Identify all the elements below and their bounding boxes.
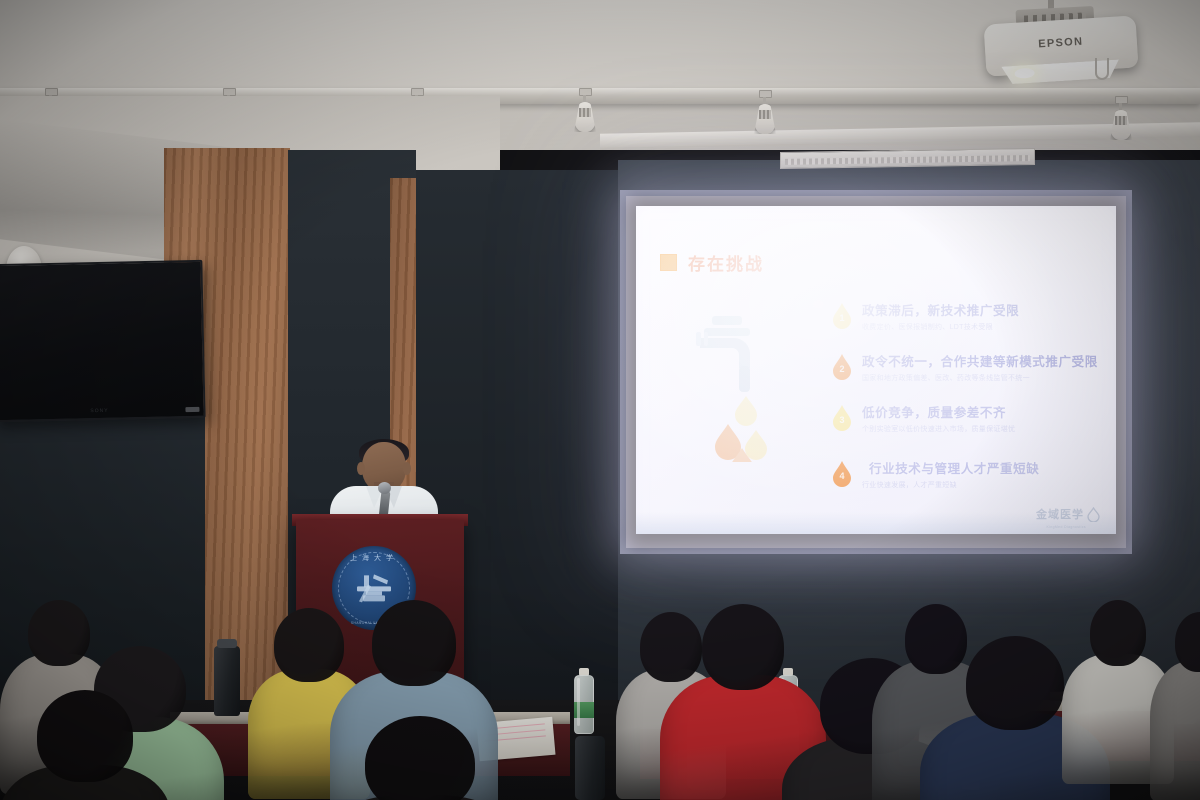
projector-cable-hook <box>1095 58 1109 80</box>
bullet-heading: 行业技术与管理人才严重短缺 <box>862 458 1114 477</box>
water-bottle <box>574 668 594 734</box>
bullet-number: 2 <box>832 364 852 374</box>
audience-member-torso <box>1150 661 1200 800</box>
slide-bullet-item: 1 政策滞后，新技术推广受限 收费定价、医保报销制约、LDT技术受限 <box>832 300 1114 342</box>
projected-slide: 存在挑战 <box>636 206 1116 534</box>
water-drop-number-icon: 1 <box>832 302 852 329</box>
brand-name: 金域医学 <box>1036 506 1084 522</box>
slide-brand-logo: 金域医学 KingMed Diagnostics <box>1036 506 1100 522</box>
brand-mark-icon <box>1087 507 1100 522</box>
audience-member-head <box>365 716 475 800</box>
bullet-subtext: 国家和地方政策偏差、医改、药改等条线监管不统一 <box>862 373 1114 383</box>
bullet-number: 3 <box>832 415 852 425</box>
wall-mounted-tv[interactable]: SONY <box>0 260 206 422</box>
slide-title-row: 存在挑战 <box>660 250 764 275</box>
ceiling-spotlight <box>572 88 598 134</box>
bullet-subtext: 行业快速发展，人才严重短缺 <box>862 480 1114 490</box>
audience-member <box>0 690 170 800</box>
audience-member-head <box>966 636 1064 730</box>
audience-member-head <box>1090 600 1146 666</box>
microphone-head <box>378 482 391 494</box>
tv-indicator <box>185 407 199 412</box>
slide-bullet-item: 4 行业技术与管理人才严重短缺 行业快速发展，人才严重短缺 <box>832 458 1114 500</box>
ceiling-spotlight <box>752 90 778 136</box>
slide-bullet-item: 2 政令不统一，合作共建等新模式推广受限 国家和地方政策偏差、医改、药改等条线监… <box>832 351 1114 393</box>
audience-member <box>1150 612 1200 800</box>
bullet-number: 4 <box>832 471 852 481</box>
slide-bullet-list: 1 政策滞后，新技术推广受限 收费定价、医保报销制约、LDT技术受限 2 政令不… <box>832 300 1114 509</box>
water-drop-number-icon: 4 <box>832 460 852 487</box>
audience-member <box>330 716 510 800</box>
bullet-heading: 政策滞后，新技术推广受限 <box>862 300 1114 319</box>
presenter-ear <box>357 462 365 475</box>
presenter-ear <box>403 462 411 475</box>
slide-bullet-item: 3 低价竞争，质量参差不齐 个别实验室以低价快速进入市场，质量保证堪忧 <box>832 402 1114 444</box>
brand-tagline: KingMed Diagnostics <box>1047 525 1086 529</box>
faucet-dripping-icon <box>694 302 790 462</box>
projection-screen: 存在挑战 <box>626 196 1126 548</box>
ceiling-spotlight <box>1108 96 1134 142</box>
bullet-number: 1 <box>832 313 852 323</box>
slide-title: 存在挑战 <box>688 250 764 275</box>
water-drop-number-icon: 3 <box>832 404 852 431</box>
audience-member-head <box>37 690 133 782</box>
emblem-top-text: 上海大学 <box>332 553 416 563</box>
bullet-heading: 政令不统一，合作共建等新模式推广受限 <box>862 351 1114 370</box>
water-drop-number-icon: 2 <box>832 353 852 380</box>
projector-brand-label: EPSON <box>985 32 1137 53</box>
ceiling-projector: EPSON <box>984 15 1139 76</box>
slide-title-bullet-icon <box>660 254 677 271</box>
thermos-bottle <box>575 736 605 800</box>
audience-member-head <box>372 600 456 686</box>
audience-member-head <box>702 604 784 690</box>
lecture-hall-scene: EPSON SONY 存在挑战 <box>0 0 1200 800</box>
bullet-subtext: 个别实验室以低价快速进入市场，质量保证堪忧 <box>862 424 1114 434</box>
bullet-subtext: 收费定价、医保报销制约、LDT技术受限 <box>862 322 1114 332</box>
tv-brand-label: SONY <box>90 408 108 414</box>
bullet-heading: 低价竞争，质量参差不齐 <box>862 402 1114 421</box>
